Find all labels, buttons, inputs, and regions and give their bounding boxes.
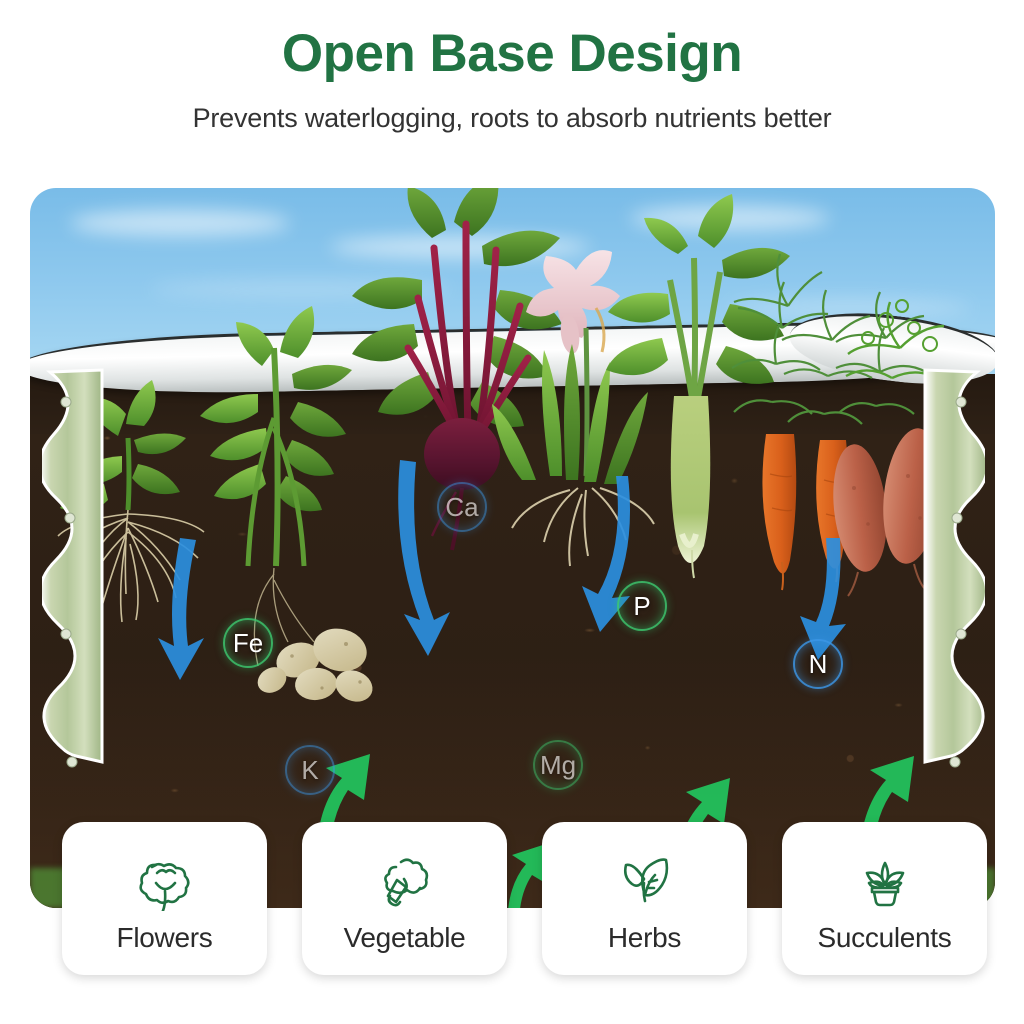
feature-card-label: Vegetable — [344, 922, 466, 954]
nutrient-badge-k: K — [285, 745, 335, 795]
feature-card-label: Herbs — [608, 922, 681, 954]
feature-card-flowers[interactable]: Flowers — [62, 822, 267, 975]
broccoli-icon — [374, 844, 436, 916]
feature-card-label: Flowers — [117, 922, 213, 954]
flower-icon — [134, 844, 196, 916]
feature-card-vegetable[interactable]: Vegetable — [302, 822, 507, 975]
nutrient-badge-fe: Fe — [223, 618, 273, 668]
feature-card-label: Succulents — [818, 922, 952, 954]
feature-cards: Flowers Vegetable Herb — [0, 822, 1024, 982]
feature-card-succulents[interactable]: Succulents — [782, 822, 987, 975]
nutrient-badge-ca: Ca — [437, 482, 487, 532]
potted-plant-icon — [854, 844, 916, 916]
leaves-icon — [614, 844, 676, 916]
nutrient-badge-p: P — [617, 581, 667, 631]
nutrient-badge-n: N — [793, 639, 843, 689]
feature-card-herbs[interactable]: Herbs — [542, 822, 747, 975]
nutrient-badge-mg: Mg — [533, 740, 583, 790]
